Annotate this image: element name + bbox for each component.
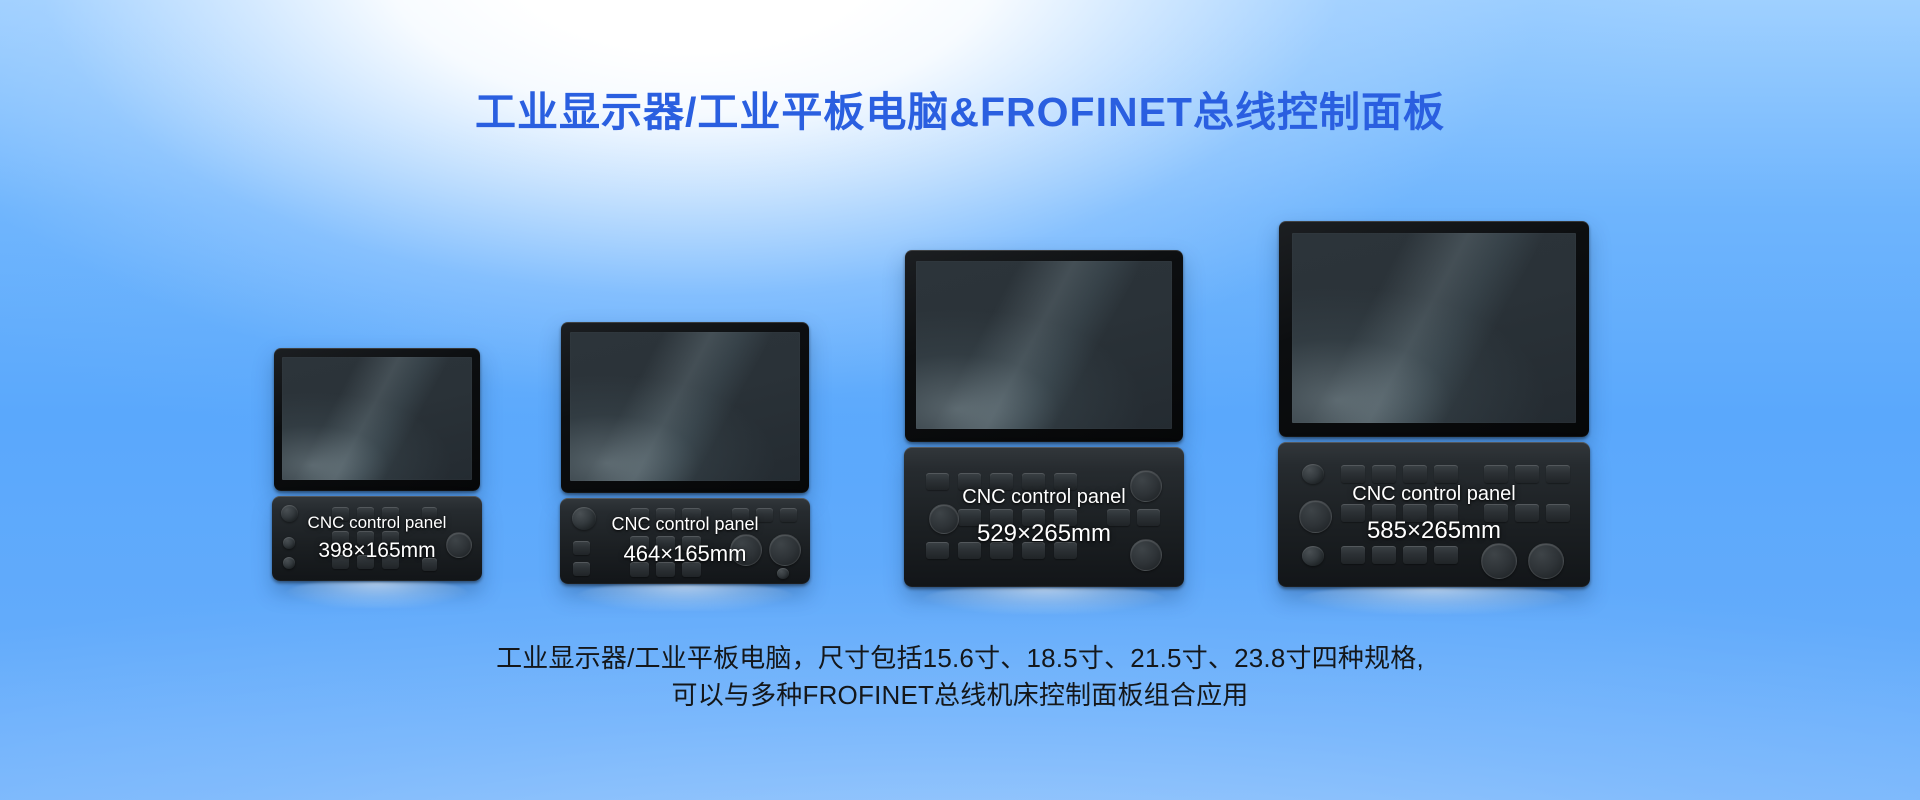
control-panel-keys-2 (560, 498, 810, 584)
knob-icon[interactable] (283, 557, 295, 569)
knob-icon[interactable] (1481, 543, 1517, 579)
key-button[interactable] (1372, 504, 1396, 522)
key-button[interactable] (1434, 504, 1458, 522)
knob-icon[interactable] (1302, 464, 1324, 484)
key-button[interactable] (1484, 465, 1508, 483)
key-button[interactable] (422, 558, 437, 571)
poster-canvas: 工业显示器/工业平板电脑&FROFINET总线控制面板 (0, 0, 1920, 800)
monitor-3 (905, 250, 1183, 442)
key-button[interactable] (732, 508, 749, 522)
key-button[interactable] (1341, 465, 1365, 483)
key-button[interactable] (1434, 546, 1458, 564)
key-button[interactable] (1403, 465, 1427, 483)
key-button[interactable] (573, 541, 590, 555)
reflection (575, 585, 795, 611)
key-button[interactable] (357, 555, 374, 569)
control-panel-1[interactable]: CNC control panel 398×165mm (272, 496, 482, 581)
key-button[interactable] (756, 508, 773, 522)
key-button[interactable] (1341, 504, 1365, 522)
monitor-2 (561, 322, 809, 493)
key-button[interactable] (1515, 465, 1539, 483)
key-button[interactable] (382, 507, 399, 521)
knob-icon[interactable] (777, 568, 789, 579)
knob-icon[interactable] (446, 532, 472, 558)
key-button[interactable] (958, 473, 981, 490)
product-item-3[interactable]: CNC control panel 529×265mm (904, 250, 1184, 610)
reflection (1297, 588, 1572, 614)
control-panel-3[interactable]: CNC control panel 529×265mm (904, 447, 1184, 587)
product-item-2[interactable]: CNC control panel 464×165mm (560, 322, 810, 610)
control-panel-4[interactable]: CNC control panel 585×265mm (1278, 442, 1590, 587)
monitor-screen-1 (282, 357, 472, 480)
key-button[interactable] (1484, 504, 1508, 522)
reflection (921, 588, 1167, 614)
control-panel-keys-4 (1278, 442, 1590, 587)
key-button[interactable] (1546, 465, 1570, 483)
key-button[interactable] (630, 508, 649, 523)
knob-icon[interactable] (283, 537, 295, 549)
monitor-screen-2 (570, 332, 800, 481)
reflection (285, 582, 470, 608)
key-button[interactable] (780, 508, 797, 522)
knob-icon[interactable] (1130, 470, 1162, 502)
caption-line-2: 可以与多种FROFINET总线机床控制面板组合应用 (0, 677, 1920, 714)
key-button[interactable] (1372, 465, 1396, 483)
key-button[interactable] (682, 508, 701, 523)
key-button[interactable] (656, 508, 675, 523)
knob-icon[interactable] (572, 507, 596, 530)
knob-icon[interactable] (1299, 500, 1332, 533)
key-button[interactable] (1022, 473, 1045, 490)
key-button[interactable] (656, 536, 675, 551)
knob-icon[interactable] (1130, 539, 1162, 571)
key-button[interactable] (926, 542, 949, 559)
monitor-4 (1279, 221, 1589, 437)
key-button[interactable] (926, 473, 949, 490)
key-button[interactable] (958, 509, 981, 526)
key-button[interactable] (332, 531, 349, 545)
knob-icon[interactable] (929, 504, 959, 534)
control-panel-2[interactable]: CNC control panel 464×165mm (560, 498, 810, 584)
knob-icon[interactable] (1302, 546, 1324, 566)
key-button[interactable] (1137, 509, 1160, 526)
key-button[interactable] (958, 542, 981, 559)
key-button[interactable] (332, 555, 349, 569)
key-button[interactable] (382, 531, 399, 545)
key-button[interactable] (656, 562, 675, 577)
key-button[interactable] (1341, 546, 1365, 564)
key-button[interactable] (990, 509, 1013, 526)
page-title: 工业显示器/工业平板电脑&FROFINET总线控制面板 (0, 78, 1920, 138)
control-panel-keys-3 (904, 447, 1184, 587)
key-button[interactable] (630, 536, 649, 551)
monitor-screen-4 (1292, 233, 1576, 423)
key-button[interactable] (573, 562, 590, 576)
key-button[interactable] (357, 531, 374, 545)
knob-icon[interactable] (1528, 543, 1564, 579)
key-button[interactable] (1403, 504, 1427, 522)
key-button[interactable] (332, 507, 349, 521)
key-button[interactable] (357, 507, 374, 521)
product-lineup: CNC control panel 398×165mm (0, 190, 1920, 610)
key-button[interactable] (1372, 546, 1396, 564)
key-button[interactable] (1022, 509, 1045, 526)
key-button[interactable] (1107, 509, 1130, 526)
product-item-4[interactable]: CNC control panel 585×265mm (1278, 221, 1590, 610)
key-button[interactable] (1022, 542, 1045, 559)
knob-icon[interactable] (769, 534, 801, 566)
monitor-1 (274, 348, 480, 491)
caption-line-1: 工业显示器/工业平板电脑，尺寸包括15.6寸、18.5寸、21.5寸、23.8寸… (0, 640, 1920, 677)
key-button[interactable] (990, 473, 1013, 490)
key-button[interactable] (382, 555, 399, 569)
key-button[interactable] (990, 542, 1013, 559)
key-button[interactable] (1054, 473, 1077, 490)
key-button[interactable] (1434, 465, 1458, 483)
key-button[interactable] (1546, 504, 1570, 522)
monitor-screen-3 (916, 261, 1172, 429)
key-button[interactable] (682, 536, 701, 551)
key-button[interactable] (1054, 542, 1077, 559)
knob-icon[interactable] (730, 534, 762, 566)
product-item-1[interactable]: CNC control panel 398×165mm (272, 348, 482, 610)
caption-block: 工业显示器/工业平板电脑，尺寸包括15.6寸、18.5寸、21.5寸、23.8寸… (0, 640, 1920, 714)
key-button[interactable] (682, 562, 701, 577)
key-button[interactable] (1515, 504, 1539, 522)
key-button[interactable] (1054, 509, 1077, 526)
key-button[interactable] (630, 562, 649, 577)
key-button[interactable] (1403, 546, 1427, 564)
control-panel-keys-1 (272, 496, 482, 581)
knob-icon[interactable] (281, 505, 298, 522)
key-button[interactable] (422, 507, 437, 520)
